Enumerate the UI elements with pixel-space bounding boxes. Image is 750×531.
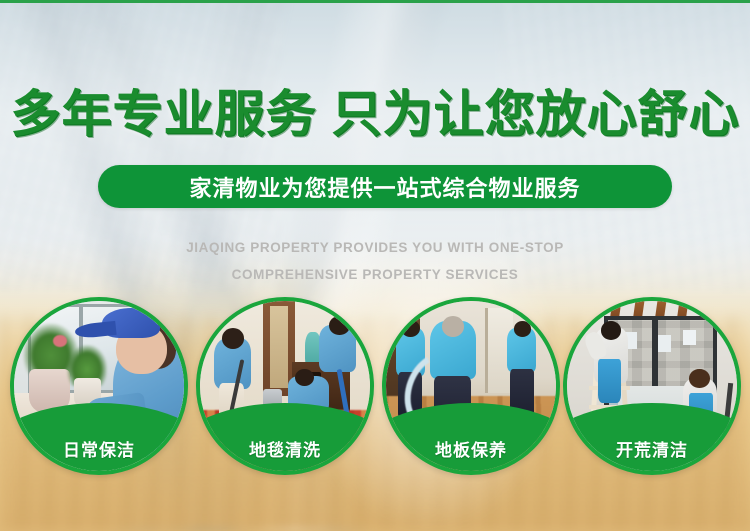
service-circle-list: 日常保洁 地毯清洗 (0, 0, 750, 531)
promotional-banner: 多年专业服务 只为让您放心舒心 家清物业为您提供一站式综合物业服务 JIAQIN… (0, 0, 750, 531)
service-label-floor-maintenance: 地板保养 (386, 436, 556, 461)
service-label-post-construction-cleaning: 开荒清洁 (567, 436, 737, 461)
service-label-carpet-washing: 地毯清洗 (200, 436, 370, 461)
service-circle-floor-maintenance[interactable]: 地板保养 (382, 297, 560, 475)
service-circle-daily-cleaning[interactable]: 日常保洁 (10, 297, 188, 475)
service-label-daily-cleaning: 日常保洁 (14, 436, 184, 461)
service-circle-post-construction-cleaning[interactable]: 开荒清洁 (563, 297, 741, 475)
service-circle-carpet-washing[interactable]: 地毯清洗 (196, 297, 374, 475)
